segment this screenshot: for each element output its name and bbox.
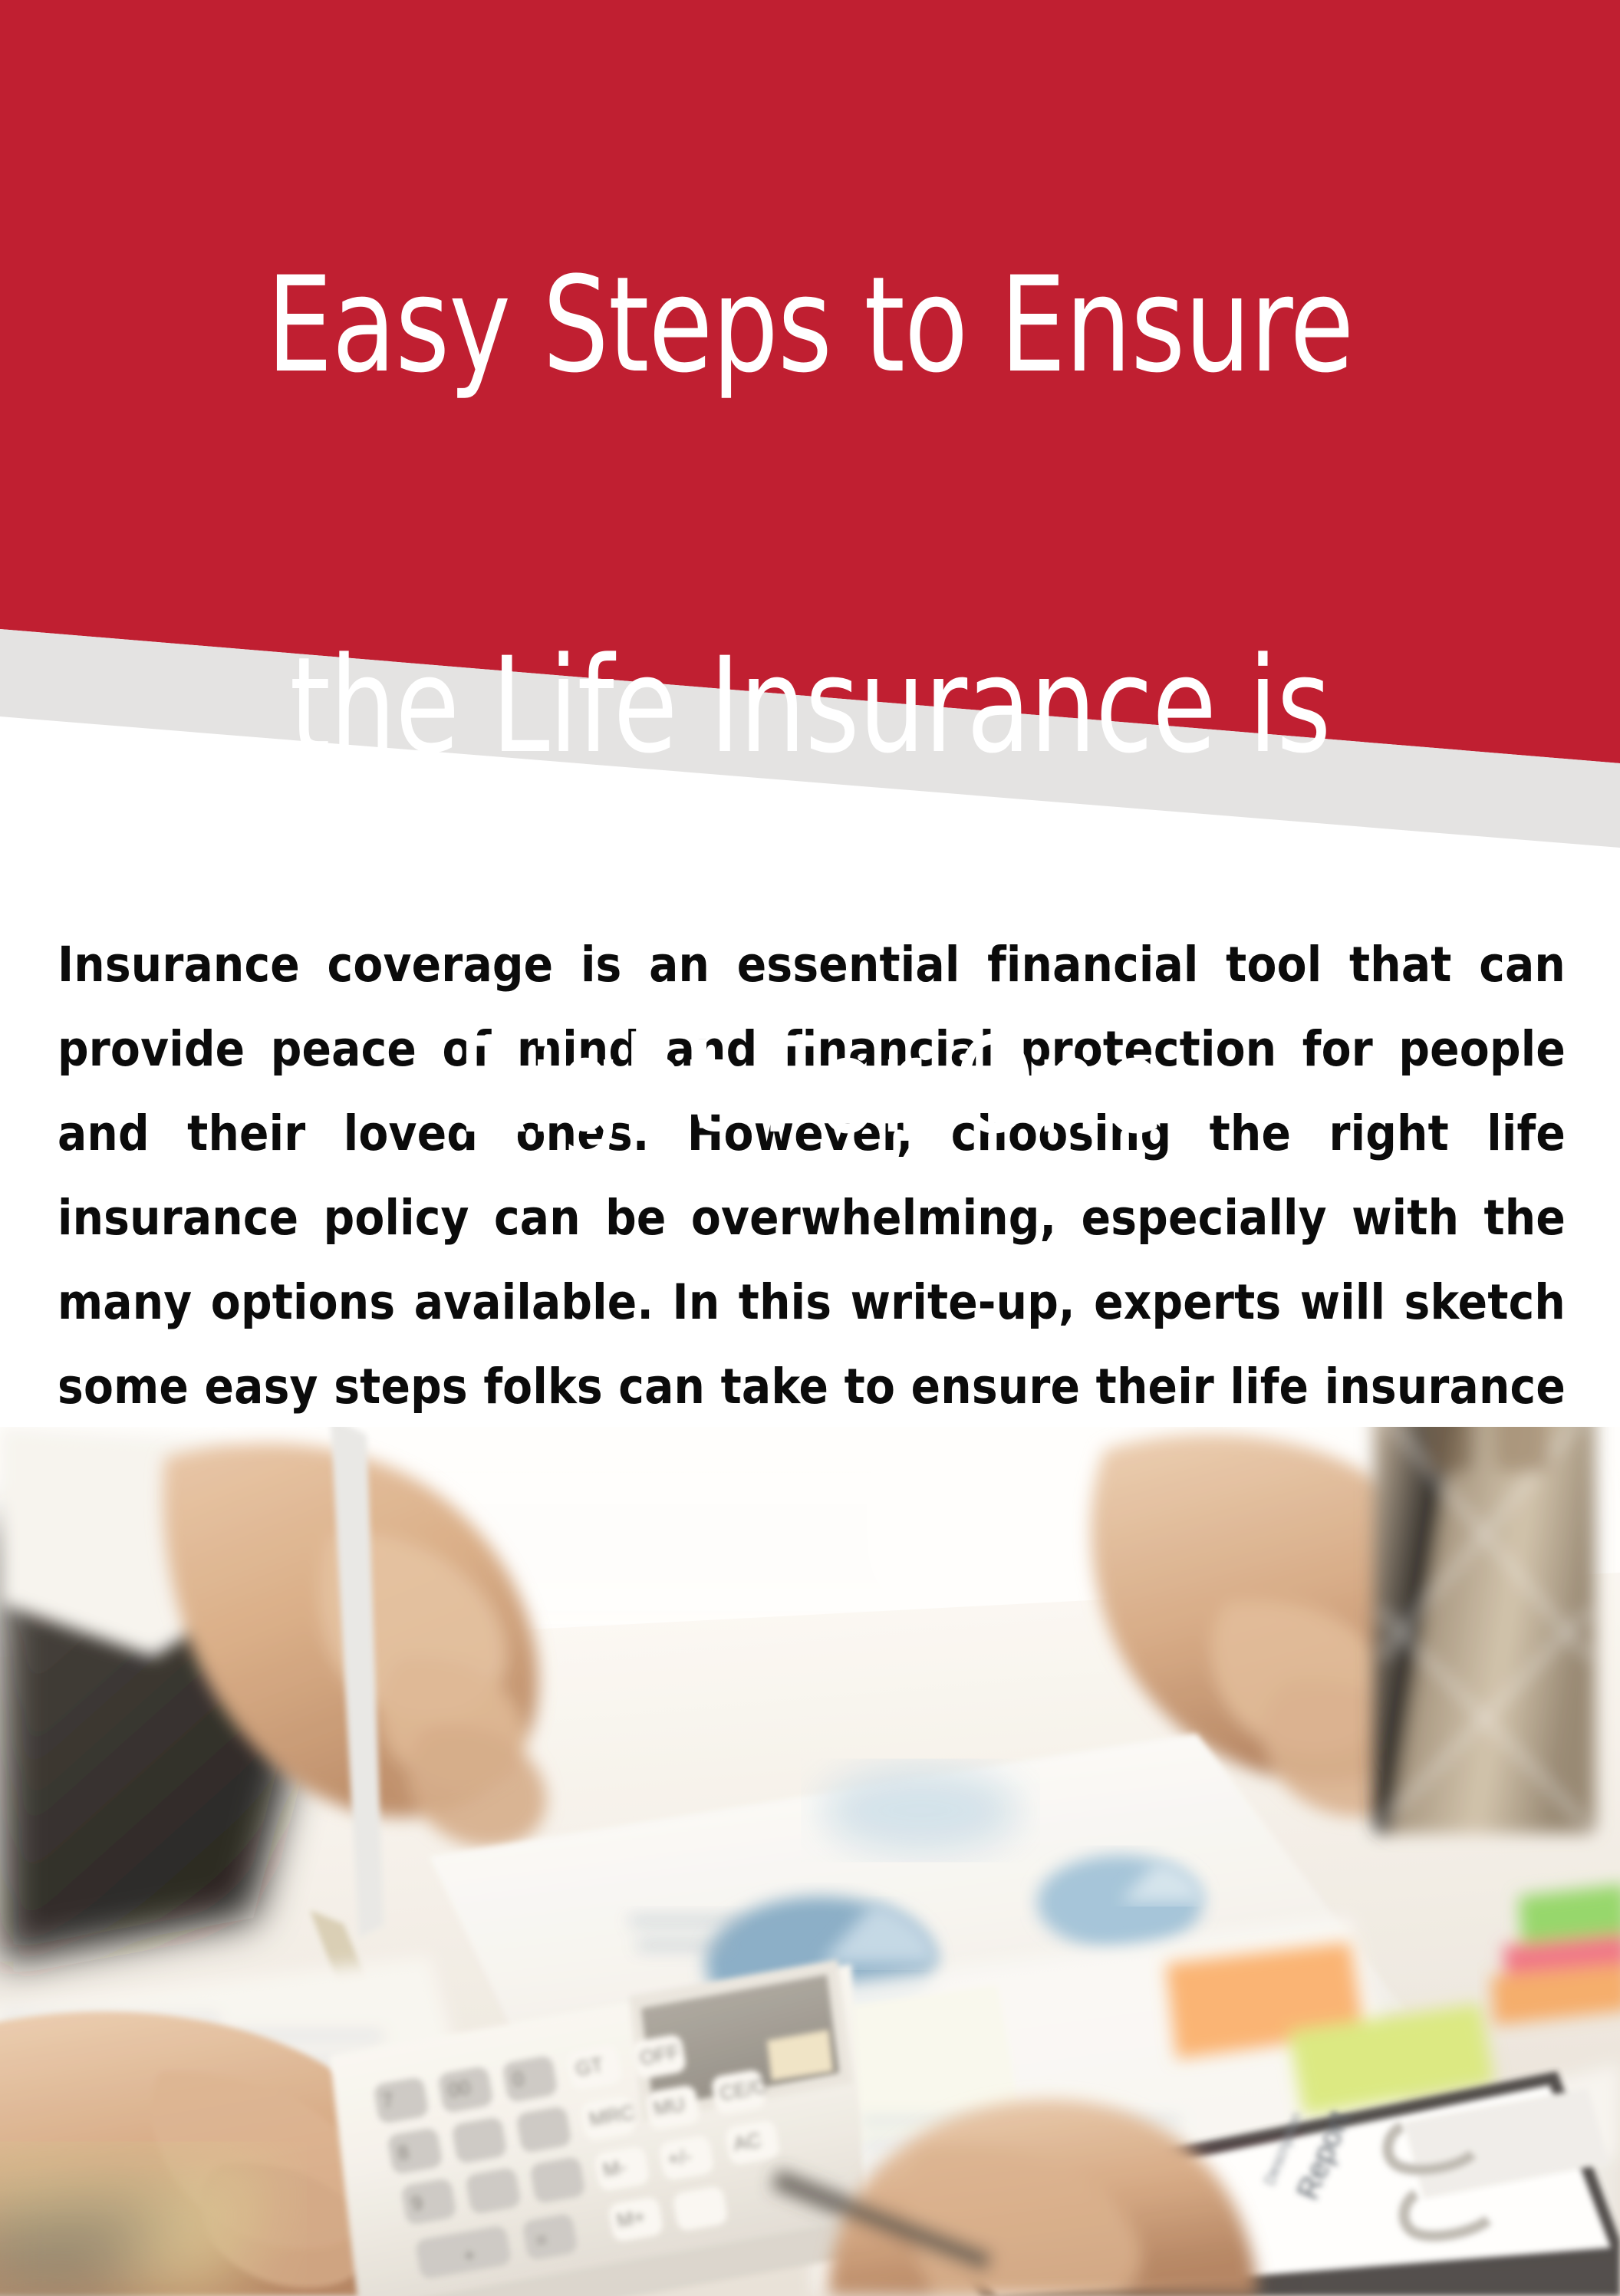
hero-photo: 7 8 9 00 0 GT OFF MRC MU M- +/- M+ CE/C …: [0, 1427, 1620, 2296]
photo-warm-overlay: [0, 1427, 1620, 2296]
office-desk-photo-illustration: 7 8 9 00 0 GT OFF MRC MU M- +/- M+ CE/C …: [0, 1427, 1620, 2296]
page-title: Easy Steps to Ensure the Life Insurance …: [97, 40, 1523, 1372]
title-line-2: the Life Insurance is: [97, 611, 1523, 801]
title-line-1: Easy Steps to Ensure: [97, 230, 1523, 420]
title-line-3: Right For One: [97, 991, 1523, 1181]
